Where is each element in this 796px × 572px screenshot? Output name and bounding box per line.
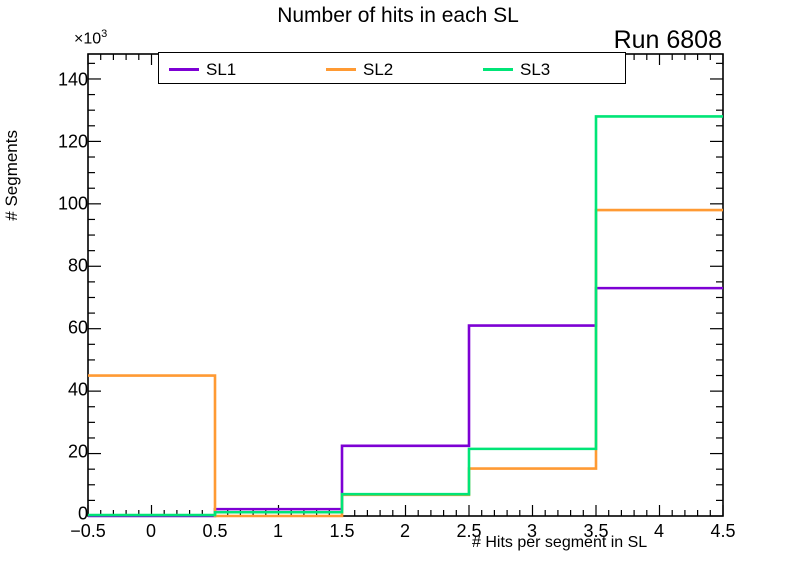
legend-label-sl2: SL2 xyxy=(363,61,393,78)
histogram-series xyxy=(88,116,723,516)
legend-swatch-sl1 xyxy=(169,68,199,71)
legend-label-sl1: SL1 xyxy=(206,61,236,78)
histogram-plot xyxy=(0,0,796,572)
legend-entry-sl1[interactable]: SL1 xyxy=(169,60,236,78)
series-line-sl1 xyxy=(88,288,723,516)
legend-swatch-sl2 xyxy=(326,68,356,71)
legend-label-sl3: SL3 xyxy=(520,61,550,78)
legend-entry-sl2[interactable]: SL2 xyxy=(326,60,393,78)
chart-canvas: Number of hits in each SL Run 6808 ×103 … xyxy=(0,0,796,572)
series-line-sl2 xyxy=(88,210,723,516)
legend: SL1 SL2 SL3 xyxy=(158,52,626,84)
legend-swatch-sl3 xyxy=(483,68,513,71)
series-line-sl3 xyxy=(88,116,723,515)
legend-entry-sl3[interactable]: SL3 xyxy=(483,60,550,78)
